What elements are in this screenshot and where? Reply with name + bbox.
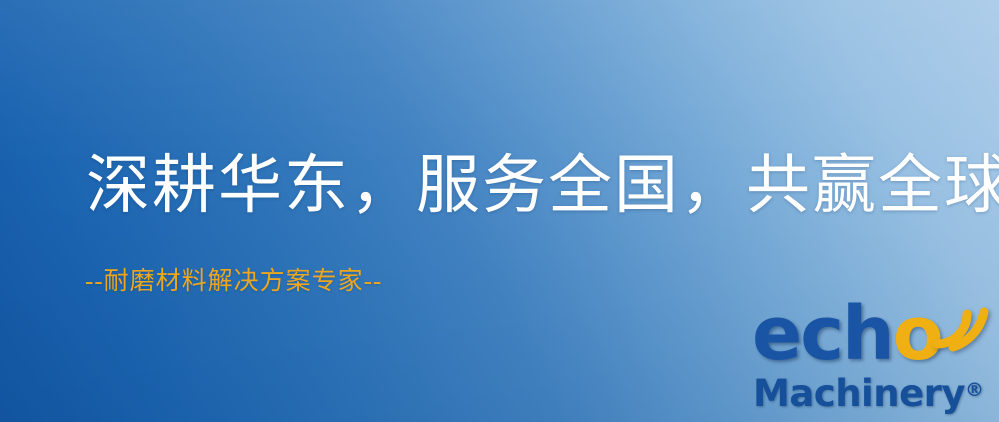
logo-tagline-text: Machinery <box>753 372 965 415</box>
promo-banner: 深耕华东，服务全国，共赢全球 --耐磨材料解决方案专家-- echo Machi… <box>0 0 999 422</box>
signal-waves-icon <box>927 292 989 354</box>
banner-headline: 深耕华东，服务全国，共赢全球 <box>86 152 999 219</box>
banner-subtitle: --耐磨材料解决方案专家-- <box>85 267 382 297</box>
registered-trademark-icon: ® <box>965 379 984 401</box>
company-logo: echo Machinery® <box>752 296 996 418</box>
logo-wordmark-primary: ech <box>752 291 893 377</box>
logo-tagline: Machinery® <box>753 372 984 415</box>
logo-wordmark: echo <box>752 296 942 372</box>
